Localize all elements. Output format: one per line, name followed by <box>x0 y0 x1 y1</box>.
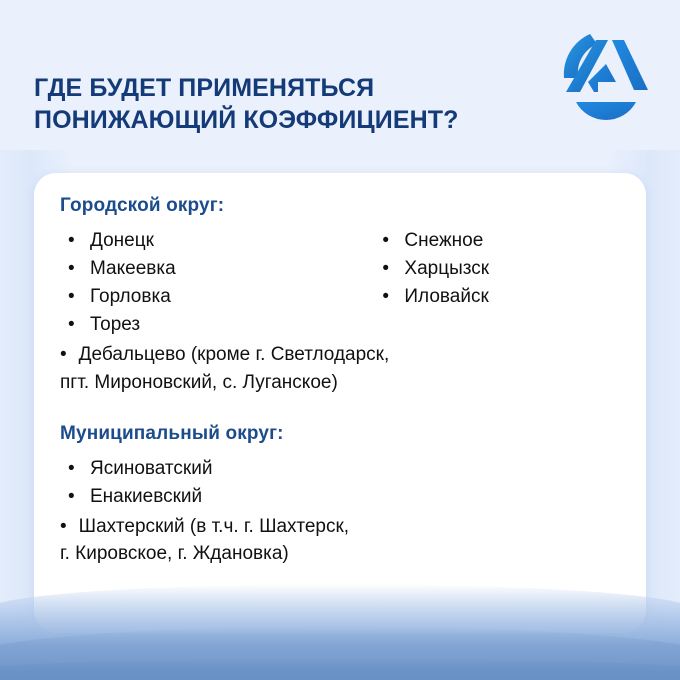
shakhtersky-line-2: г. Кировское, г. Ждановка) <box>60 540 620 568</box>
section-1-left-column: Донецк Макеевка Горловка Торез <box>60 227 374 339</box>
list-item: Торез <box>60 311 374 339</box>
poster-root: ГДЕ БУДЕТ ПРИМЕНЯТЬСЯ ПОНИЖАЮЩИЙ КОЭФФИЦ… <box>0 0 680 680</box>
list-item: Ясиноватский <box>60 455 380 483</box>
bottom-wave-layer-3 <box>0 658 680 680</box>
shakhtersky-line-1: Шахтерский (в т.ч. г. Шахтерск, <box>60 513 620 541</box>
content-card: Городской округ: Донецк Макеевка Горловк… <box>34 173 646 633</box>
list-item: Донецк <box>60 227 374 255</box>
list-item: Иловайск <box>374 283 620 311</box>
city-list-right: Снежное Харцызск Иловайск <box>374 227 620 311</box>
section-municipalny-okrug: Муниципальный округ: Ясиноватский Енакие… <box>60 423 620 568</box>
list-item: Харцызск <box>374 255 620 283</box>
debaltsevo-line-1: Дебальцево (кроме г. Светлодарск, <box>60 341 620 369</box>
debaltsevo-line-2: пгт. Мироновский, с. Луганское) <box>60 369 620 397</box>
section-1-right-column: Снежное Харцызск Иловайск <box>374 227 620 339</box>
emblem-logo <box>554 20 658 124</box>
section-heading-municipalny: Муниципальный округ: <box>60 423 620 445</box>
list-item: Макеевка <box>60 255 374 283</box>
city-list-left: Донецк Макеевка Горловка Торез <box>60 227 374 339</box>
district-list-left: Ясиноватский Енакиевский <box>60 455 380 511</box>
section-2-left-column: Ясиноватский Енакиевский <box>60 455 380 511</box>
section-2-columns: Ясиноватский Енакиевский <box>60 455 620 511</box>
section-heading-gorodskoy: Городской округ: <box>60 195 620 217</box>
header: ГДЕ БУДЕТ ПРИМЕНЯТЬСЯ ПОНИЖАЮЩИЙ КОЭФФИЦ… <box>34 72 534 136</box>
list-item: Енакиевский <box>60 483 380 511</box>
list-item: Горловка <box>60 283 374 311</box>
page-title: ГДЕ БУДЕТ ПРИМЕНЯТЬСЯ ПОНИЖАЮЩИЙ КОЭФФИЦ… <box>34 72 534 136</box>
list-item: Снежное <box>374 227 620 255</box>
debaltsevo-note: Дебальцево (кроме г. Светлодарск, пгт. М… <box>60 341 620 396</box>
bottom-wave-layer-2 <box>0 626 680 680</box>
section-1-columns: Донецк Макеевка Горловка Торез Снежное Х… <box>60 227 620 339</box>
shakhtersky-note: Шахтерский (в т.ч. г. Шахтерск, г. Киров… <box>60 513 620 568</box>
section-gorodskoy-okrug: Городской округ: Донецк Макеевка Горловк… <box>60 195 620 397</box>
